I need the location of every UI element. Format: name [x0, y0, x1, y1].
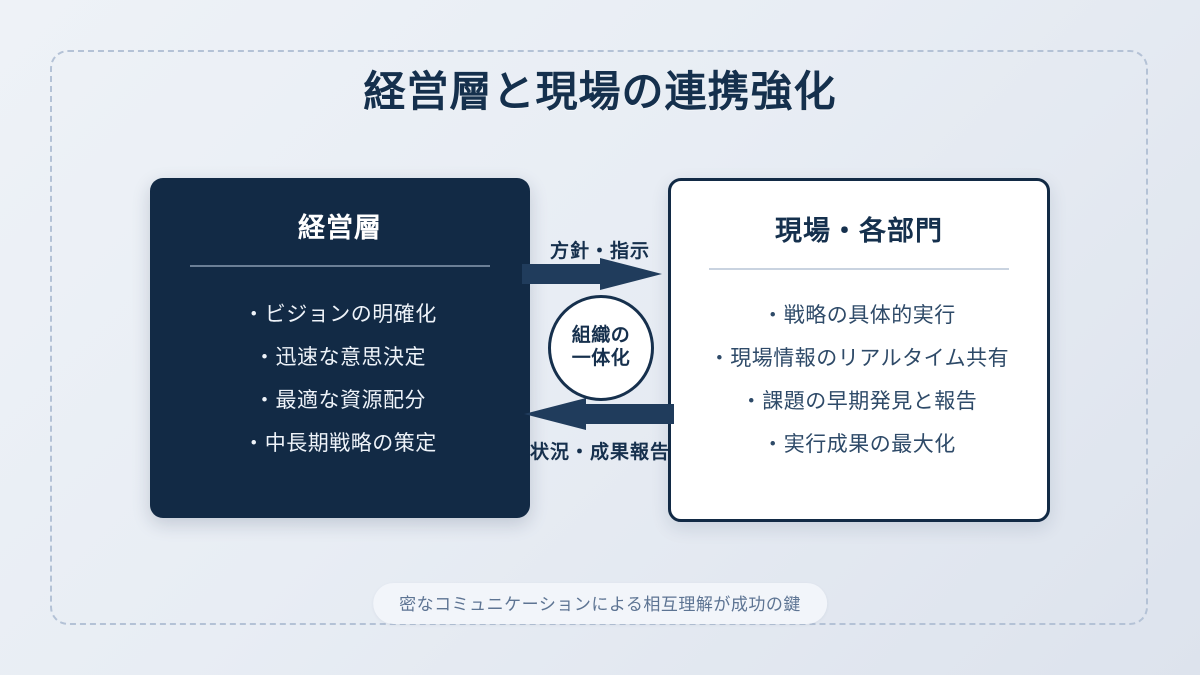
- list-item: ・戦略の具体的実行: [671, 294, 1047, 337]
- card-management-layer: 経営層 ・ビジョンの明確化 ・迅速な意思決定 ・最適な資源配分 ・中長期戦略の策…: [150, 178, 530, 518]
- flow-label-bottom: 状況・成果報告: [0, 437, 1200, 464]
- list-item: ・課題の早期発見と報告: [671, 380, 1047, 423]
- hub-circle-unity: 組織の 一体化: [548, 295, 654, 401]
- slide-canvas: 経営層と現場の連携強化 経営層 ・ビジョンの明確化 ・迅速な意思決定 ・最適な資…: [0, 0, 1200, 675]
- hub-line-1: 組織の: [572, 325, 631, 348]
- flow-label-top-text: 方針・指示: [550, 241, 650, 262]
- list-item: ・最適な資源配分: [150, 379, 530, 422]
- card-frontline-departments: 現場・各部門 ・戦略の具体的実行 ・現場情報のリアルタイム共有 ・課題の早期発見…: [668, 178, 1050, 522]
- list-item: ・現場情報のリアルタイム共有: [671, 337, 1047, 380]
- list-item: ・ビジョンの明確化: [150, 293, 530, 336]
- card-left-divider: [190, 265, 490, 267]
- page-title: 経営層と現場の連携強化: [0, 58, 1200, 119]
- footer-note-pill: 密なコミュニケーションによる相互理解が成功の鍵: [373, 583, 827, 624]
- arrow-left-icon: [524, 398, 674, 432]
- flow-label-bottom-text: 状況・成果報告: [530, 442, 670, 463]
- list-item: ・迅速な意思決定: [150, 336, 530, 379]
- hub-line-2: 一体化: [572, 348, 631, 371]
- arrow-right-icon: [522, 258, 662, 292]
- flow-label-top: 方針・指示: [0, 236, 1200, 263]
- card-right-divider: [709, 268, 1009, 270]
